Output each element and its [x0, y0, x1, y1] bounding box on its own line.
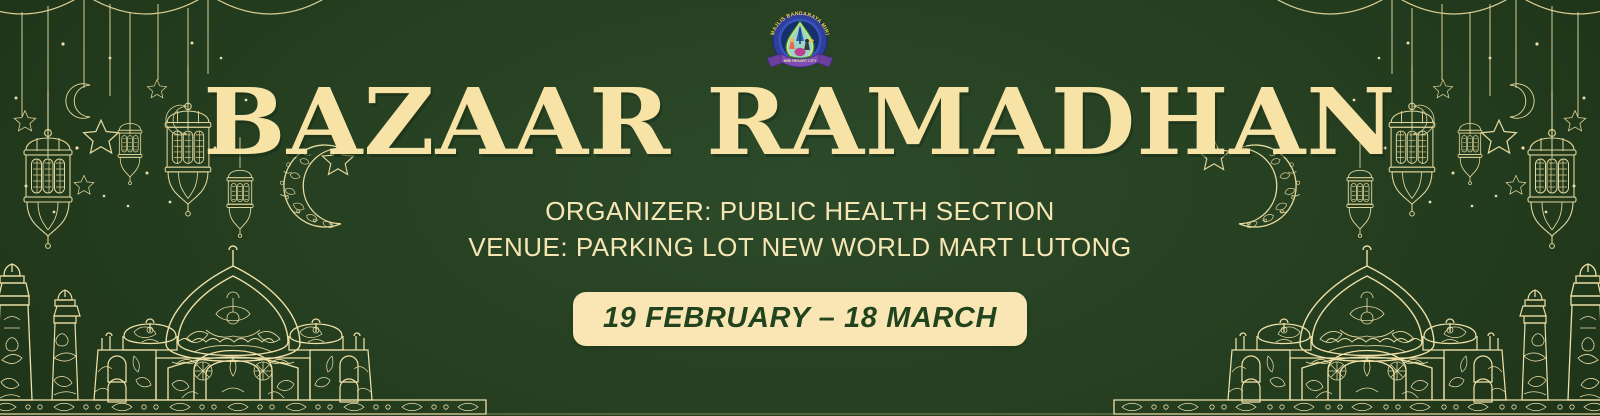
page-title: BAZAAR RAMADHAN [203, 76, 1396, 168]
date-range-badge: 19 FEBRUARY – 18 MARCH [573, 292, 1027, 346]
ramadhan-bazaar-banner: MAJLIS BANDARAYA MIRI MIRI RES [0, 0, 1600, 416]
banner-content: MAJLIS BANDARAYA MIRI MIRI RES [0, 0, 1600, 416]
organizer-line: ORGANIZER: PUBLIC HEALTH SECTION [468, 194, 1131, 230]
event-details: ORGANIZER: PUBLIC HEALTH SECTION VENUE: … [468, 194, 1131, 266]
logo-ribbon-text: MIRI RESORT CITY [784, 59, 817, 63]
council-logo: MAJLIS BANDARAYA MIRI MIRI RES [761, 8, 839, 70]
majlis-bandaraya-miri-crest-icon: MAJLIS BANDARAYA MIRI MIRI RES [761, 8, 839, 70]
venue-line: VENUE: PARKING LOT NEW WORLD MART LUTONG [468, 230, 1131, 266]
